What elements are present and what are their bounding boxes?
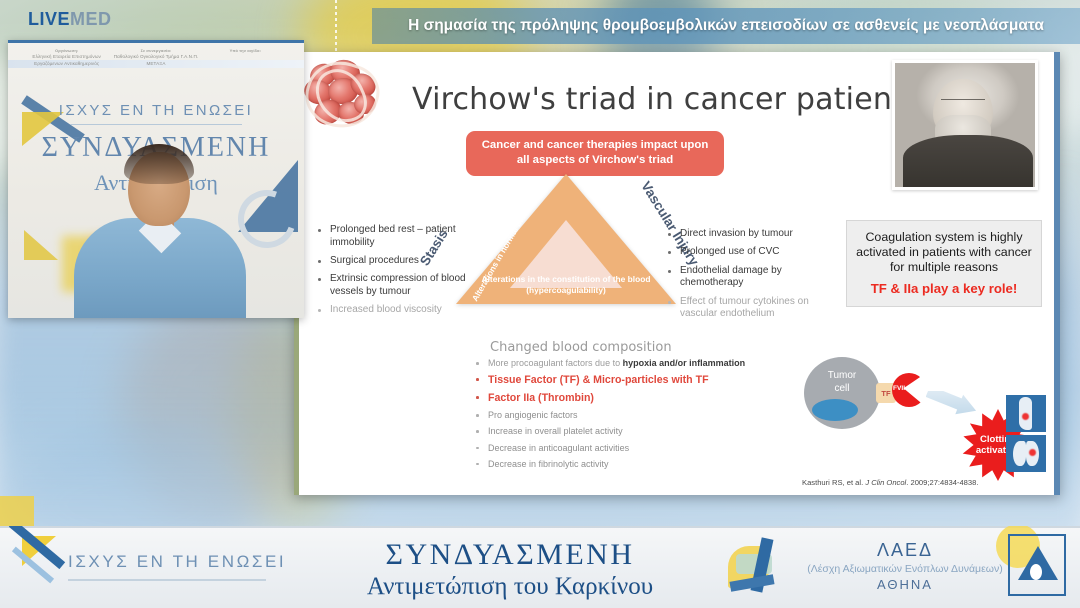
background-yellow-corner <box>0 496 34 526</box>
banner-title-line2: Αντιμετώπιση του Καρκίνου <box>300 573 720 601</box>
list-item: Direct invasion by tumour <box>666 228 842 241</box>
banner-right-mark <box>1008 534 1066 596</box>
list-item: Surgical procedures <box>316 255 488 268</box>
coagulation-summary-box: Coagulation system is highly activated i… <box>846 220 1042 307</box>
citation-authors: Kasthuri RS, et al. <box>802 478 865 487</box>
triangle-base-text: Alterations in the constitution of the b… <box>472 274 660 297</box>
banner-top-rule <box>0 526 1080 528</box>
clinical-image-stack <box>1006 395 1046 475</box>
impact-callout-box: Cancer and cancer therapies impact upon … <box>466 131 724 176</box>
poster-org-2: Παθολογικό Ογκολογικό Τμήμα Γ.Α.Ν.Π. ΜΕΤ… <box>114 54 199 66</box>
citation-journal: J Clin Oncol <box>865 478 906 487</box>
tumor-cell-label: Tumor cell <box>804 370 880 395</box>
poster-org-1: Ελληνική Εταιρεία Επιστημόνων Εργαζόμενω… <box>32 54 101 66</box>
tumor-coagulation-diagram: Tumor cell TF FVIIa Clotting <box>798 347 1046 489</box>
session-title-banner: Η σημασία της πρόληψης θρομβοεμβολικών ε… <box>372 8 1080 44</box>
list-item: Effect of tumour cytokines on vascular e… <box>666 296 842 322</box>
changed-blood-heading: Changed blood composition <box>490 340 672 355</box>
leg-dvt-icon <box>1006 395 1046 432</box>
livemed-logo[interactable]: LIVEMED <box>28 9 112 30</box>
lung-embolism-icon <box>1006 435 1046 472</box>
coagulation-box-line2: TF & IIa play a key role! <box>855 281 1033 296</box>
list-item: Tissue Factor (TF) & Micro-particles wit… <box>472 374 762 388</box>
poster-yellow-triangle-2 <box>24 230 58 260</box>
list-item: Endothelial damage by chemotherapy <box>666 265 842 291</box>
citation-rest: . 2009;27:4834-4838. <box>906 478 978 487</box>
venue-abbreviation: ΛΑΕΔ <box>790 540 1020 561</box>
bullet-bold-part: hypoxia and/or inflammation <box>623 358 746 368</box>
red-blood-cells-icon <box>304 60 380 130</box>
session-title-text: Η σημασία της πρόληψης θρομβοεμβολικών ε… <box>408 17 1044 35</box>
list-item: Extrinsic compression of blood vessels b… <box>316 273 488 299</box>
list-item: Increased blood viscosity <box>316 304 488 317</box>
banner-venue-emblem <box>722 534 792 600</box>
poster-organizers: Οργάνωση: Ελληνική Εταιρεία Επιστημόνων … <box>8 48 304 68</box>
list-item: Factor IIa (Thrombin) <box>472 392 762 406</box>
venue-city: ΑΘΗΝΑ <box>790 577 1020 592</box>
logo-live-text: LIVE <box>28 9 70 29</box>
banner-motto-rule <box>68 579 266 581</box>
speaker-video-tile[interactable]: Οργάνωση: Ελληνική Εταιρεία Επιστημόνων … <box>8 40 304 318</box>
slide-title: Virchow's triad in cancer patients <box>412 82 920 117</box>
list-item: More procoagulant factors due to hypoxia… <box>472 358 762 370</box>
webinar-stage: LIVEMED Η σημασία της πρόληψης θρομβοεμβ… <box>0 0 1080 608</box>
vascular-injury-bullet-list: Direct invasion by tumour Prolonged use … <box>666 228 842 327</box>
list-item: Prolonged use of CVC <box>666 246 842 259</box>
list-item: Decrease in fibrinolytic activity <box>472 459 762 471</box>
slide-right-accent-bar <box>1054 52 1060 495</box>
tumor-label-line2: cell <box>804 383 880 396</box>
list-item: Decrease in anticoagulant activities <box>472 443 762 455</box>
process-arrow-icon <box>926 391 978 417</box>
banner-left-logo <box>6 534 62 594</box>
list-item: Increase in overall platelet activity <box>472 426 762 438</box>
virchow-portrait <box>892 60 1038 190</box>
slide-citation: Kasthuri RS, et al. J Clin Oncol. 2009;2… <box>802 478 1012 487</box>
tumor-nucleus-shape <box>812 399 858 421</box>
poster-motto-rule <box>70 124 242 125</box>
poster-org-label-3: Υπό την αιγίδα: <box>201 48 290 54</box>
logo-med-text: MED <box>70 9 112 29</box>
banner-venue-info: ΛΑΕΔ (Λέσχη Αξιωματικών Ενόπλων Δυνάμεων… <box>790 540 1020 592</box>
banner-event-title: ΣΥΝΔΥΑΣΜΕΝΗ Αντιμετώπιση του Καρκίνου <box>300 538 720 601</box>
portrait-suit <box>903 135 1033 187</box>
bullet-plain-part: More procoagulant factors due to <box>488 358 623 368</box>
poster-motto: ΙΣΧΥΣ ΕΝ ΤΗ ΕΝΩΣΕΙ <box>8 102 304 119</box>
tumor-label-line1: Tumor <box>804 370 880 383</box>
presentation-slide[interactable]: Virchow's triad in cancer patients Cance… <box>294 52 1060 495</box>
fviia-label: FVIIa <box>893 385 909 392</box>
bottom-banner: ΙΣΧΥΣ ΕΝ ΤΗ ΕΝΩΣΕΙ ΣΥΝΔΥΑΣΜΕΝΗ Αντιμετώπ… <box>0 526 1080 608</box>
changed-blood-bullet-list: More procoagulant factors due to hypoxia… <box>472 358 762 475</box>
list-item: Pro angiogenic factors <box>472 410 762 422</box>
list-item: Prolonged bed rest – patient immobility <box>316 224 488 250</box>
portrait-glasses-icon <box>941 99 985 107</box>
top-bar: LIVEMED Η σημασία της πρόληψης θρομβοεμβ… <box>0 0 1080 48</box>
virchow-triad-triangle: Stasis Vascular Injury Alterations in no… <box>456 174 676 306</box>
stasis-bullet-list: Prolonged bed rest – patient immobility … <box>316 224 488 323</box>
banner-motto: ΙΣΧΥΣ ΕΝ ΤΗ ΕΝΩΣΕΙ <box>68 552 286 572</box>
banner-title-line1: ΣΥΝΔΥΑΣΜΕΝΗ <box>300 538 720 572</box>
venue-full-name: (Λέσχη Αξιωματικών Ενόπλων Δυνάμεων) <box>790 563 1020 575</box>
coagulation-box-line1: Coagulation system is highly activated i… <box>855 230 1033 275</box>
